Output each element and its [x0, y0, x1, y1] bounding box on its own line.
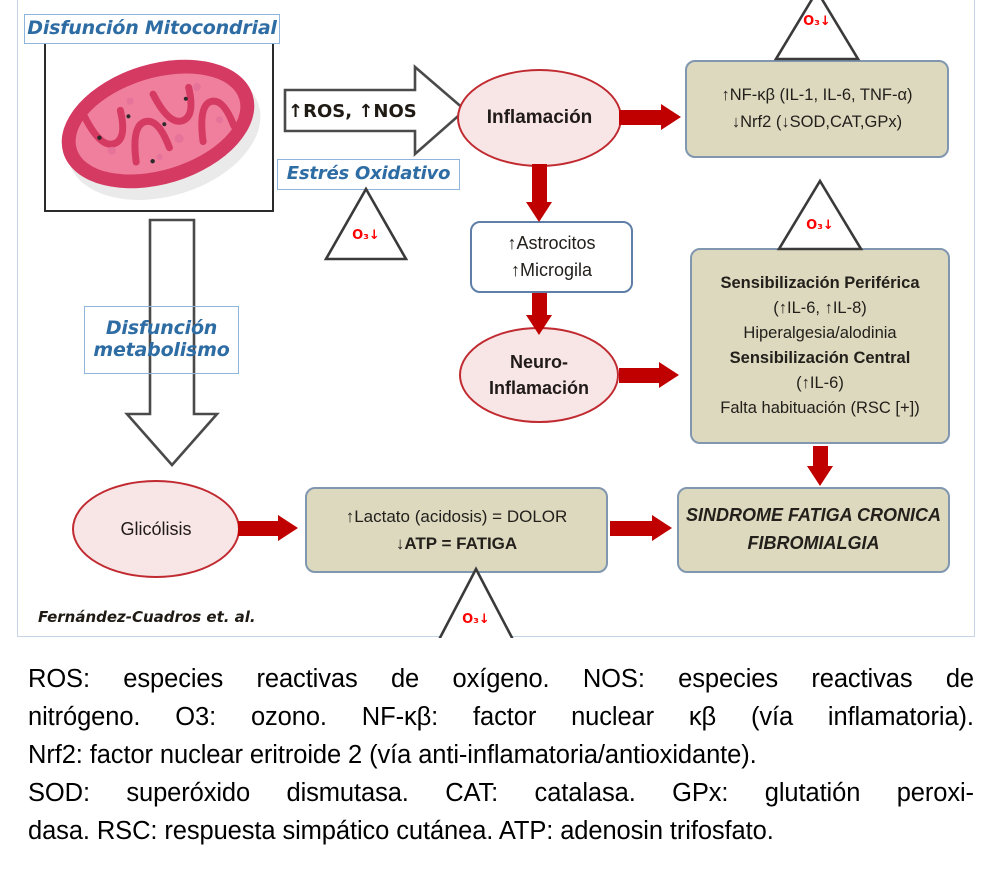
caption-w: especies: [123, 660, 223, 698]
caption-w: dismutasa.: [286, 774, 408, 812]
label-oxidative-stress-text: Estrés Oxidativo: [287, 164, 450, 185]
ozone-marker-nfkb-text: O₃↓: [772, 14, 862, 29]
ros-nos-text: ↑ROS, ↑NOS: [288, 101, 417, 122]
caption-w: ozono.: [251, 698, 327, 736]
caption-w: O3:: [175, 698, 216, 736]
ozone-text: O₃↓: [462, 612, 490, 627]
caption-w: inflamatoria).: [828, 698, 974, 736]
arrow-inflamacion-to-astrocitos-shaft: [532, 164, 547, 204]
label-metabolism-dysfunction: Disfunción metabolismo: [84, 306, 239, 374]
arrow-glicolisis-to-lactato-shaft: [238, 521, 280, 536]
open-arrow-ros-nos-label: ↑ROS, ↑NOS: [288, 98, 428, 124]
figure-page: Disfunción Mitocondrial ↑ROS, ↑NOS Estré…: [0, 0, 996, 890]
caption-w: reactivas: [811, 660, 912, 698]
ozone-marker-sensibilizacion: O₃↓: [775, 178, 865, 252]
ozone-text: O₃↓: [352, 228, 380, 243]
caption-w: superóxido: [126, 774, 250, 812]
caption-w: κβ: [689, 698, 716, 736]
arrow-astrocitos-to-neuro-shaft: [532, 293, 547, 317]
caption-w: nuclear: [571, 698, 654, 736]
caption-w: especies: [678, 660, 778, 698]
figure-credit-text: Fernández-Cuadros et. al.: [38, 608, 256, 626]
node-lactato-line-1: ↑Lactato (acidosis) = DOLOR: [346, 503, 568, 530]
arrow-inflamacion-to-astrocitos-head: [526, 202, 552, 222]
arrow-inflamacion-to-nfkb-shaft: [619, 110, 663, 125]
node-sensibilizacion-line-2: (↑IL-6, ↑IL-8): [773, 296, 867, 321]
caption-w: de: [946, 660, 974, 698]
node-nfkb-nrf2: ↑NF-κβ (IL-1, IL-6, TNF-α) ↓Nrf2 (↓SOD,C…: [685, 60, 949, 158]
caption-w: factor: [473, 698, 536, 736]
label-mitochondrial-dysfunction-text: Disfunción Mitocondrial: [27, 18, 277, 40]
arrow-lactato-to-sindrome-shaft: [610, 521, 654, 536]
node-astrocitos-line-2: ↑Microgila: [511, 257, 592, 284]
node-inflamacion-label: Inflamación: [487, 107, 593, 129]
node-sensibilizacion: Sensibilización Periférica (↑IL-6, ↑IL-8…: [690, 248, 950, 444]
node-sensibilizacion-line-6: Falta habituación (RSC [+]): [720, 396, 919, 421]
mitochondria-image-frame: [44, 32, 274, 212]
caption-w: NF-κβ:: [362, 698, 438, 736]
label-metabolism-line1: Disfunción: [106, 318, 217, 340]
caption-w: reactivas: [256, 660, 357, 698]
node-neuro-inflamacion: Neuro- Inflamación: [459, 327, 619, 423]
node-nfkb-nrf2-line-1: ↑NF-κβ (IL-1, IL-6, TNF-α): [721, 82, 912, 109]
caption-w: nitrógeno.: [28, 698, 140, 736]
figure-caption: ROS: especies reactivas de oxígeno. NOS:…: [28, 660, 974, 850]
node-sindrome-line-2: FIBROMIALGIA: [748, 530, 880, 558]
ozone-text: O₃↓: [803, 14, 831, 29]
caption-line-1: ROS: especies reactivas de oxígeno. NOS:…: [28, 660, 974, 698]
arrow-sensibilizacion-to-sindrome-shaft: [813, 446, 828, 468]
caption-w: CAT:: [445, 774, 498, 812]
arrow-inflamacion-to-nfkb-head: [661, 104, 681, 130]
caption-w: de: [391, 660, 419, 698]
caption-w: ROS:: [28, 660, 90, 698]
node-sindrome-fatiga-cronica: SINDROME FATIGA CRONICA FIBROMIALGIA: [677, 487, 950, 573]
arrow-lactato-to-sindrome-head: [652, 515, 672, 541]
node-lactato-atp: ↑Lactato (acidosis) = DOLOR ↓ATP = FATIG…: [305, 487, 608, 573]
node-sensibilizacion-line-5: (↑IL-6): [796, 371, 844, 396]
caption-w: glutatión: [765, 774, 861, 812]
mitochondria-illustration: [46, 34, 272, 210]
ozone-marker-nfkb: O₃↓: [772, 0, 862, 62]
node-sindrome-line-1: SINDROME FATIGA CRONICA: [686, 502, 941, 530]
node-inflamacion: Inflamación: [457, 69, 622, 167]
arrow-sensibilizacion-to-sindrome-head: [807, 466, 833, 486]
caption-w: NOS:: [583, 660, 645, 698]
arrow-astrocitos-to-neuro-head: [526, 315, 552, 335]
ozone-marker-oxidative: O₃↓: [323, 186, 409, 262]
diagram-canvas: Disfunción Mitocondrial ↑ROS, ↑NOS Estré…: [0, 0, 996, 640]
node-sensibilizacion-line-4: Sensibilización Central: [730, 346, 911, 371]
ozone-marker-oxidative-text: O₃↓: [323, 228, 409, 243]
label-mitochondrial-dysfunction: Disfunción Mitocondrial: [24, 14, 280, 44]
caption-line-3: Nrf2: factor nuclear eritroide 2 (vía an…: [28, 736, 974, 774]
node-lactato-line-2: ↓ATP = FATIGA: [396, 530, 517, 557]
node-astrocitos-line-1: ↑Astrocitos: [507, 230, 595, 257]
ozone-marker-sensibilizacion-text: O₃↓: [775, 218, 865, 233]
caption-line-5: dasa. RSC: respuesta simpático cutánea. …: [28, 812, 974, 850]
node-glicolisis-label: Glicólisis: [120, 519, 191, 540]
arrow-neuro-to-sensibilizacion-head: [659, 362, 679, 388]
node-sensibilizacion-line-1: Sensibilización Periférica: [721, 271, 920, 296]
node-neuro-line-2: Inflamación: [489, 375, 589, 401]
caption-w: SOD:: [28, 774, 90, 812]
caption-w: (vía: [751, 698, 793, 736]
arrow-neuro-to-sensibilizacion-shaft: [619, 368, 661, 383]
caption-line-2: nitrógeno. O3: ozono. NF-κβ: factor nucl…: [28, 698, 974, 736]
label-metabolism-line2: metabolismo: [93, 340, 229, 362]
ozone-marker-lactato: O₃↓: [428, 566, 524, 638]
ozone-marker-lactato-text: O₃↓: [428, 612, 524, 627]
node-nfkb-nrf2-line-2: ↓Nrf2 (↓SOD,CAT,GPx): [732, 109, 902, 136]
arrow-glicolisis-to-lactato-head: [278, 515, 298, 541]
node-glicolisis: Glicólisis: [72, 480, 240, 578]
caption-w: oxígeno.: [452, 660, 549, 698]
node-neuro-line-1: Neuro-: [510, 349, 568, 375]
ozone-text: O₃↓: [806, 218, 834, 233]
node-sensibilizacion-line-3: Hiperalgesia/alodinia: [743, 321, 896, 346]
caption-w: peroxi-: [897, 774, 974, 812]
node-astrocitos-microgila: ↑Astrocitos ↑Microgila: [470, 221, 633, 293]
caption-w: catalasa.: [535, 774, 636, 812]
figure-credit: Fernández-Cuadros et. al.: [38, 608, 256, 626]
caption-line-4: SOD: superóxido dismutasa. CAT: catalasa…: [28, 774, 974, 812]
caption-w: GPx:: [672, 774, 728, 812]
